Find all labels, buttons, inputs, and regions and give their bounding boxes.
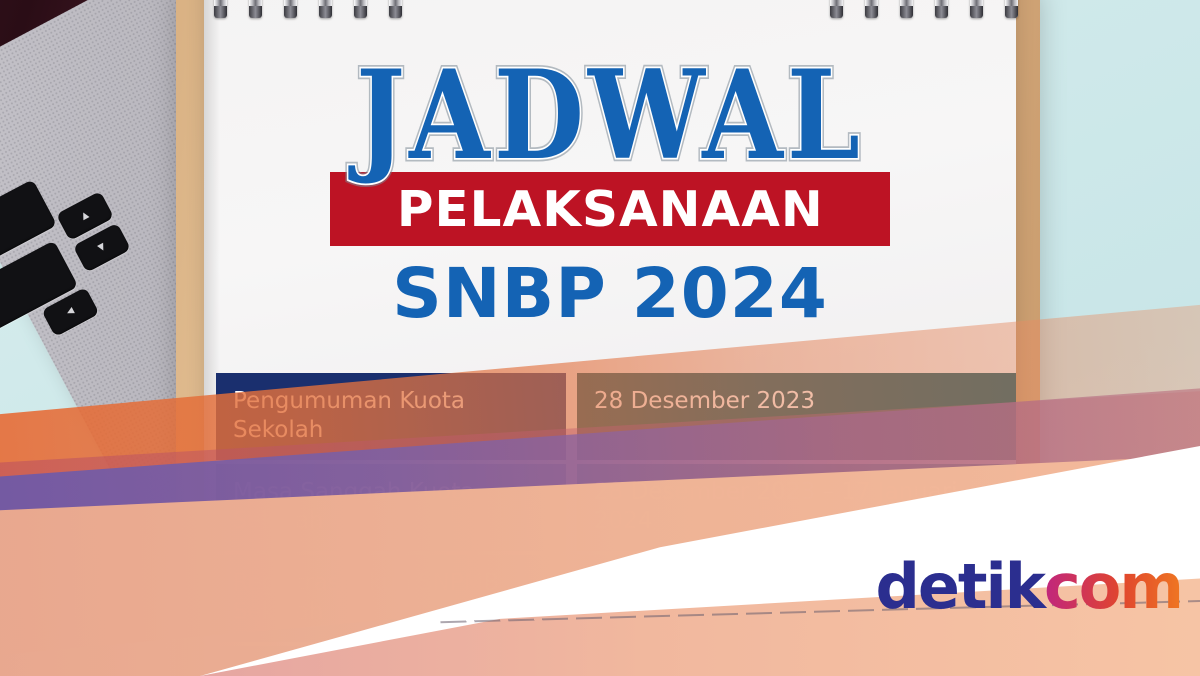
title-jadwal: JADWAL — [204, 0, 1016, 177]
infographic-canvas: delete | \ ’ ж ; / . ▲ ▼ ◀ JADWAL — [0, 0, 1200, 676]
jadwal-wrap: JADWAL JADWAL — [204, 0, 1016, 150]
schedule-table: Pengumuman Kuota Sekolah 28 Desember 202… — [216, 373, 1016, 676]
title-pelaksanaan: PELAKSANAAN — [397, 181, 824, 238]
detikcom-logo: detikcom — [875, 556, 1182, 618]
table-row: Masa Sanggah Kuota Sekolah 28 Desember 2… — [216, 464, 1016, 551]
logo-detik-text: detik — [875, 550, 1044, 623]
table-row: Registrasi Akun SNPMB 0 — [216, 646, 1016, 676]
date-cell: 0 — [577, 646, 1016, 676]
title-snbp-2024: SNBP 2024 — [204, 260, 1016, 329]
activity-cell: Masa Sanggah Kuota Sekolah — [216, 464, 566, 551]
table-row: Pengumuman Kuota Sekolah 28 Desember 202… — [216, 373, 1016, 460]
date-cell: 28 Desember 2023 – 17 Januari 2024 — [577, 464, 1016, 551]
activity-cell: Registrasi Akun SNPMB — [216, 646, 566, 676]
logo-com-text: com — [1044, 550, 1182, 623]
headline-block: JADWAL JADWAL PELAKSANAAN SNBP 2024 — [204, 0, 1016, 329]
activity-cell: Pengumuman Kuota Sekolah — [216, 373, 566, 460]
date-cell: 28 Desember 2023 — [577, 373, 1016, 460]
activity-cell: Registrasi Akun SNPMB Sekolah — [216, 555, 566, 642]
